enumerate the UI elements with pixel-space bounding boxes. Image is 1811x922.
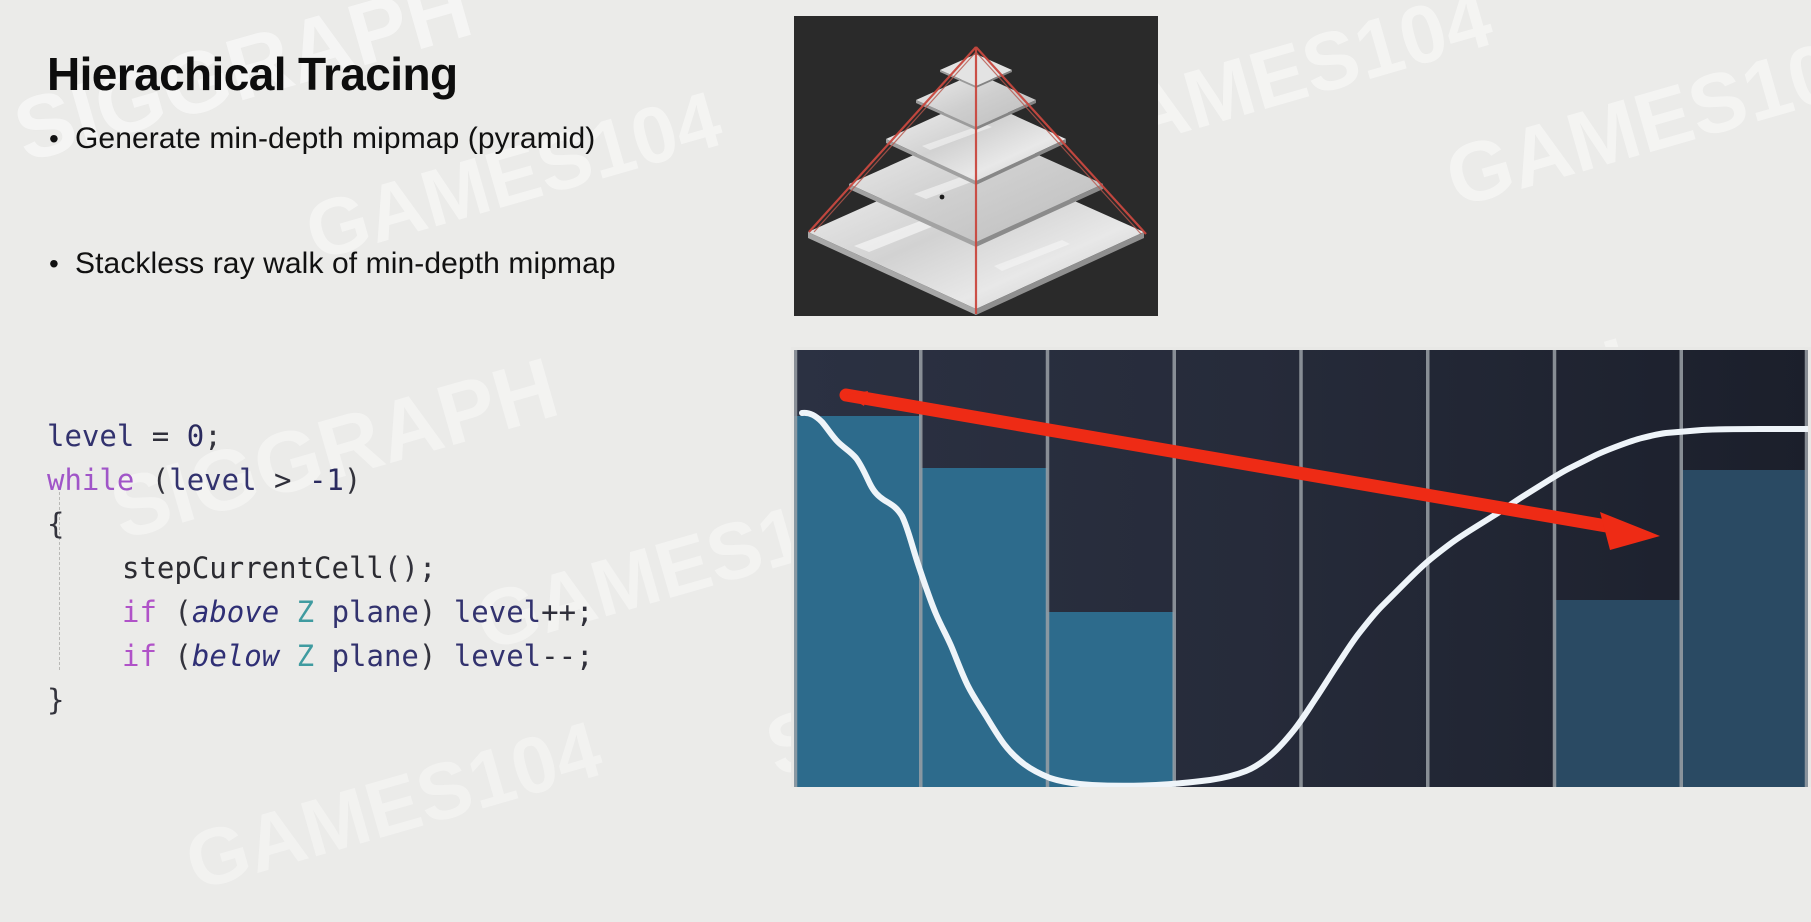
min-depth-cell: [1048, 612, 1175, 787]
code-line: level = 0;: [47, 414, 594, 458]
hiz-depth-canvas: [794, 350, 1808, 787]
bullet-marker-icon: •: [45, 118, 75, 160]
code-token: level: [169, 463, 256, 497]
slide-left-column: Hierachical Tracing • Generate min-depth…: [0, 0, 790, 922]
page-title: Hierachical Tracing: [47, 47, 457, 101]
bullet-text: Stackless ray walk of min-depth mipmap: [75, 243, 616, 285]
code-token: [169, 419, 186, 453]
code-token: (: [152, 463, 169, 497]
code-token: -1: [309, 463, 344, 497]
min-depth-cell: [1555, 600, 1682, 787]
code-token: =: [152, 419, 169, 453]
slide-root: Hierachical Tracing • Generate min-depth…: [0, 0, 1811, 922]
code-token: above: [192, 595, 279, 629]
code-line: while (level > -1): [47, 458, 594, 502]
code-token: [292, 463, 309, 497]
code-token: level: [454, 595, 541, 629]
code-token: if: [122, 595, 157, 629]
code-token: [436, 639, 453, 673]
min-depth-cell: [1681, 470, 1808, 787]
code-line: if (above Z plane) level++;: [47, 590, 594, 634]
code-token: [279, 639, 296, 673]
code-token: [314, 639, 331, 673]
code-token: ): [419, 595, 436, 629]
code-token: [257, 463, 274, 497]
code-token: level: [47, 419, 134, 453]
code-token: ): [419, 639, 436, 673]
code-token: (: [174, 639, 191, 673]
code-line: }: [47, 678, 594, 722]
code-block: level = 0;while (level > -1){stepCurrent…: [47, 414, 594, 722]
code-token: }: [47, 683, 64, 717]
code-token: stepCurrentCell: [122, 551, 384, 585]
bullet-text: Generate min-depth mipmap (pyramid): [75, 118, 595, 160]
code-token: [157, 595, 174, 629]
bullet-list: • Generate min-depth mipmap (pyramid) • …: [45, 118, 775, 368]
code-token: ;: [204, 419, 221, 453]
code-token: below: [192, 639, 279, 673]
code-token: level: [454, 639, 541, 673]
code-token: Z: [297, 595, 314, 629]
list-item: • Stackless ray walk of min-depth mipmap: [45, 243, 775, 285]
code-token: ();: [384, 551, 436, 585]
code-token: --;: [541, 639, 593, 673]
code-token: [157, 639, 174, 673]
bullet-marker-icon: •: [45, 243, 75, 285]
code-token: if: [122, 639, 157, 673]
pyramid-mipmap-image: [794, 16, 1158, 316]
code-line: if (below Z plane) level--;: [47, 634, 594, 678]
code-token: [436, 595, 453, 629]
hiz-depth-svg: [794, 350, 1808, 787]
code-token: Z: [297, 639, 314, 673]
code-token: ): [344, 463, 361, 497]
code-line: stepCurrentCell();: [47, 546, 594, 590]
min-depth-cell: [794, 416, 921, 787]
code-token: [279, 595, 296, 629]
code-token: plane: [332, 595, 419, 629]
code-token: [314, 595, 331, 629]
code-token: plane: [332, 639, 419, 673]
code-line: {: [47, 502, 594, 546]
code-token: 0: [187, 419, 204, 453]
code-token: [134, 419, 151, 453]
hiz-depth-image: [791, 347, 1811, 787]
code-token: [134, 463, 151, 497]
pyramid-svg: [794, 16, 1158, 316]
code-token: (: [174, 595, 191, 629]
list-item: • Generate min-depth mipmap (pyramid): [45, 118, 775, 160]
code-token: >: [274, 463, 291, 497]
code-token: while: [47, 463, 134, 497]
code-token: ++;: [541, 595, 593, 629]
code-token: {: [47, 507, 64, 541]
